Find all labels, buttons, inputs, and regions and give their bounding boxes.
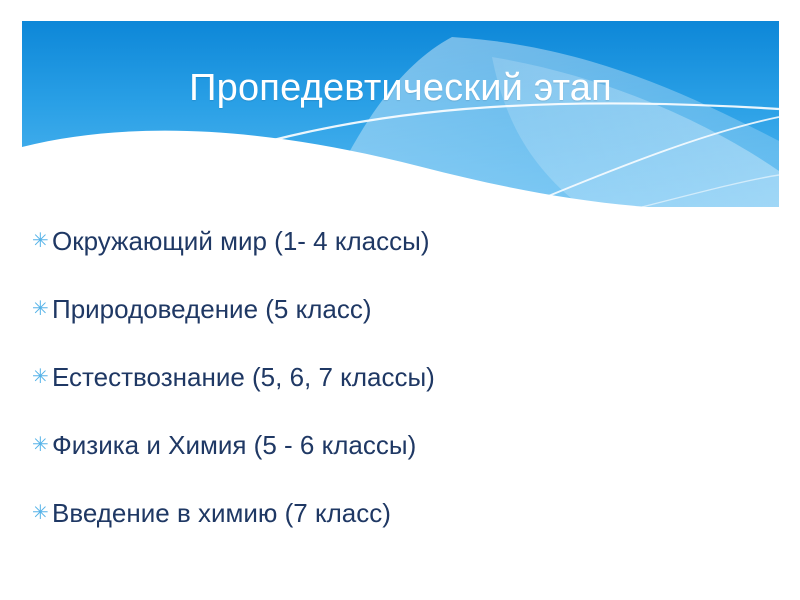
asterisk-bullet-icon: ✳ bbox=[30, 426, 52, 464]
list-item[interactable]: ✳ Природоведение (5 класс) bbox=[30, 290, 760, 358]
list-item[interactable]: ✳ Естествознание (5, 6, 7 классы) bbox=[30, 358, 760, 426]
list-item-label: Природоведение (5 класс) bbox=[52, 290, 760, 328]
asterisk-bullet-icon: ✳ bbox=[30, 358, 52, 396]
list-item[interactable]: ✳ Введение в химию (7 класс) bbox=[30, 494, 760, 562]
list-item[interactable]: ✳ Окружающий мир (1- 4 классы) bbox=[30, 222, 760, 290]
list-item-label: Введение в химию (7 класс) bbox=[52, 494, 760, 532]
page-title: Пропедевтический этап bbox=[22, 66, 779, 110]
wave-banner-graphic bbox=[22, 21, 779, 207]
list-item-label: Естествознание (5, 6, 7 классы) bbox=[52, 358, 760, 396]
slide: Пропедевтический этап ✳ Окружающий мир (… bbox=[0, 0, 800, 600]
list-item-label: Физика и Химия (5 - 6 классы) bbox=[52, 426, 760, 464]
asterisk-bullet-icon: ✳ bbox=[30, 290, 52, 328]
bullet-list: ✳ Окружающий мир (1- 4 классы) ✳ Природо… bbox=[30, 222, 760, 562]
asterisk-bullet-icon: ✳ bbox=[30, 494, 52, 532]
asterisk-bullet-icon: ✳ bbox=[30, 222, 52, 260]
list-item[interactable]: ✳ Физика и Химия (5 - 6 классы) bbox=[30, 426, 760, 494]
header-banner bbox=[22, 21, 779, 207]
list-item-label: Окружающий мир (1- 4 классы) bbox=[52, 222, 760, 260]
